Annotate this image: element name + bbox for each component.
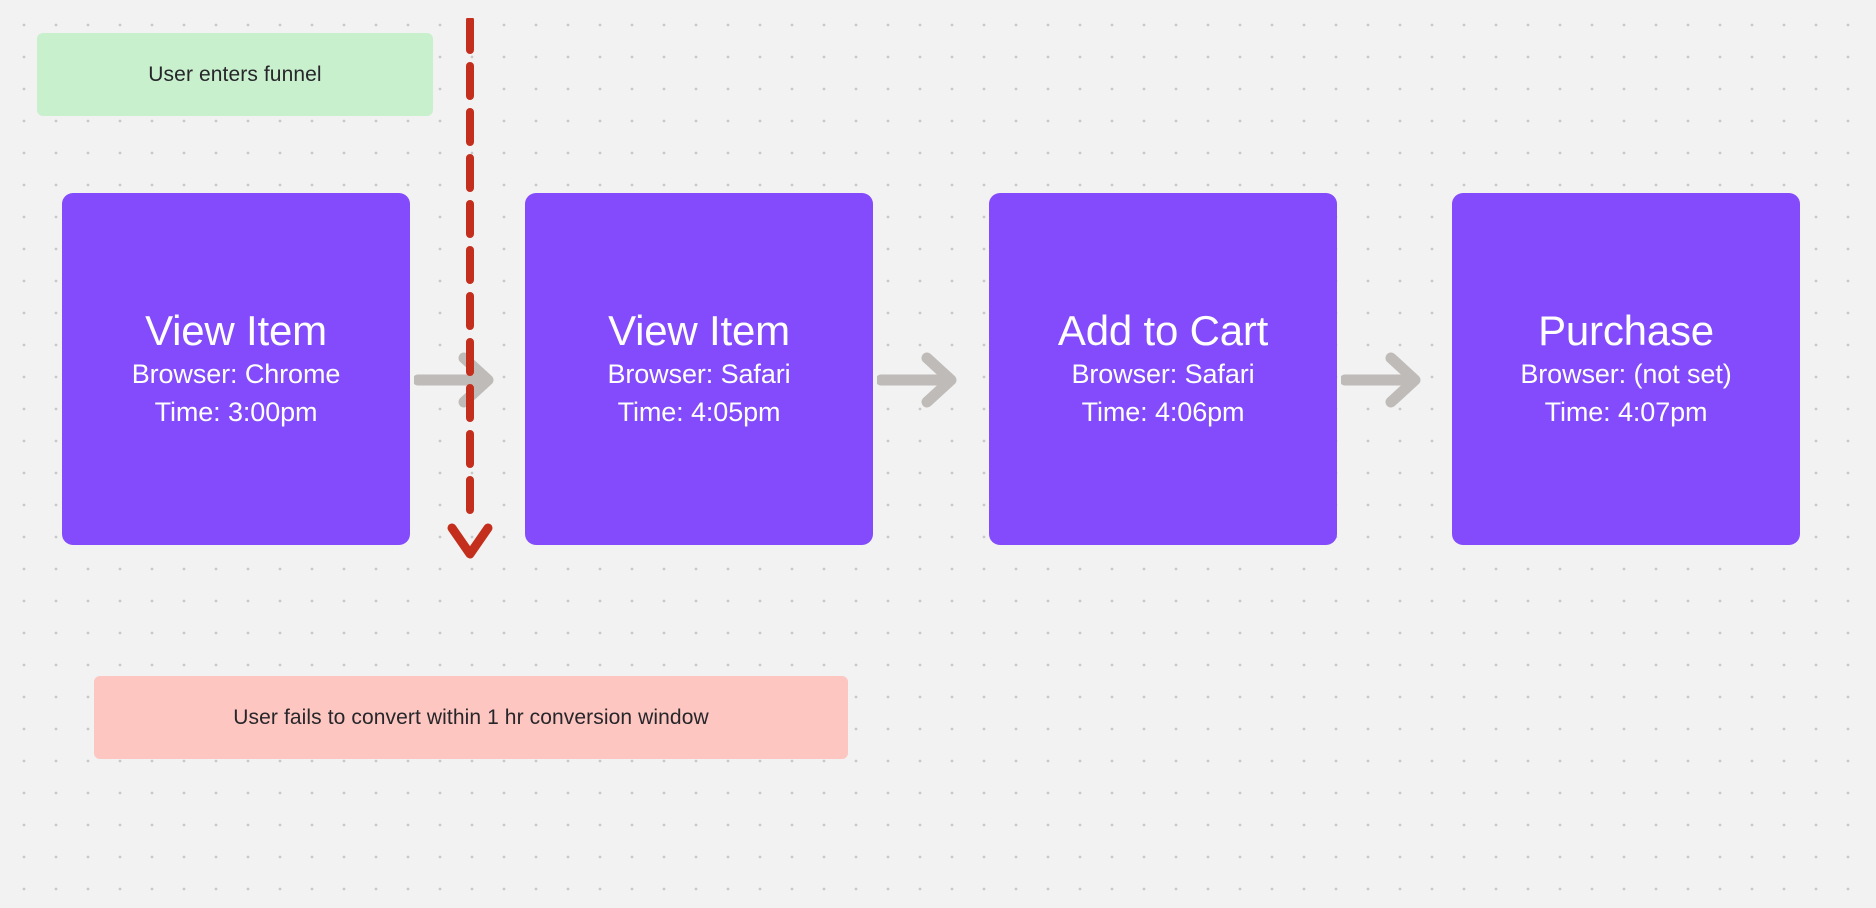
exit-note-label: User fails to convert within 1 hr conver… (233, 705, 708, 730)
funnel-step-card[interactable]: Add to Cart Browser: Safari Time: 4:06pm (989, 193, 1337, 545)
step-title: View Item (608, 307, 790, 354)
entry-note-label: User enters funnel (148, 62, 321, 87)
exit-note[interactable]: User fails to convert within 1 hr conver… (94, 676, 848, 759)
step-browser: Browser: Chrome (132, 356, 341, 393)
step-time: Time: 4:07pm (1545, 394, 1708, 431)
step-time: Time: 4:05pm (618, 394, 781, 431)
funnel-step-card[interactable]: View Item Browser: Chrome Time: 3:00pm (62, 193, 410, 545)
funnel-step-card[interactable]: Purchase Browser: (not set) Time: 4:07pm (1452, 193, 1800, 545)
step-title: View Item (145, 307, 327, 354)
entry-note[interactable]: User enters funnel (37, 33, 433, 116)
step-title: Add to Cart (1058, 307, 1268, 354)
funnel-step-card[interactable]: View Item Browser: Safari Time: 4:05pm (525, 193, 873, 545)
arrow-right-icon (877, 345, 963, 415)
step-time: Time: 4:06pm (1082, 394, 1245, 431)
step-browser: Browser: Safari (607, 356, 790, 393)
arrow-right-icon (1341, 345, 1427, 415)
arrow-right-icon (414, 345, 500, 415)
step-browser: Browser: Safari (1071, 356, 1254, 393)
step-browser: Browser: (not set) (1520, 356, 1731, 393)
step-title: Purchase (1538, 307, 1714, 354)
step-time: Time: 3:00pm (155, 394, 318, 431)
diagram-canvas: User enters funnel View Item Browser: Ch… (0, 0, 1876, 908)
